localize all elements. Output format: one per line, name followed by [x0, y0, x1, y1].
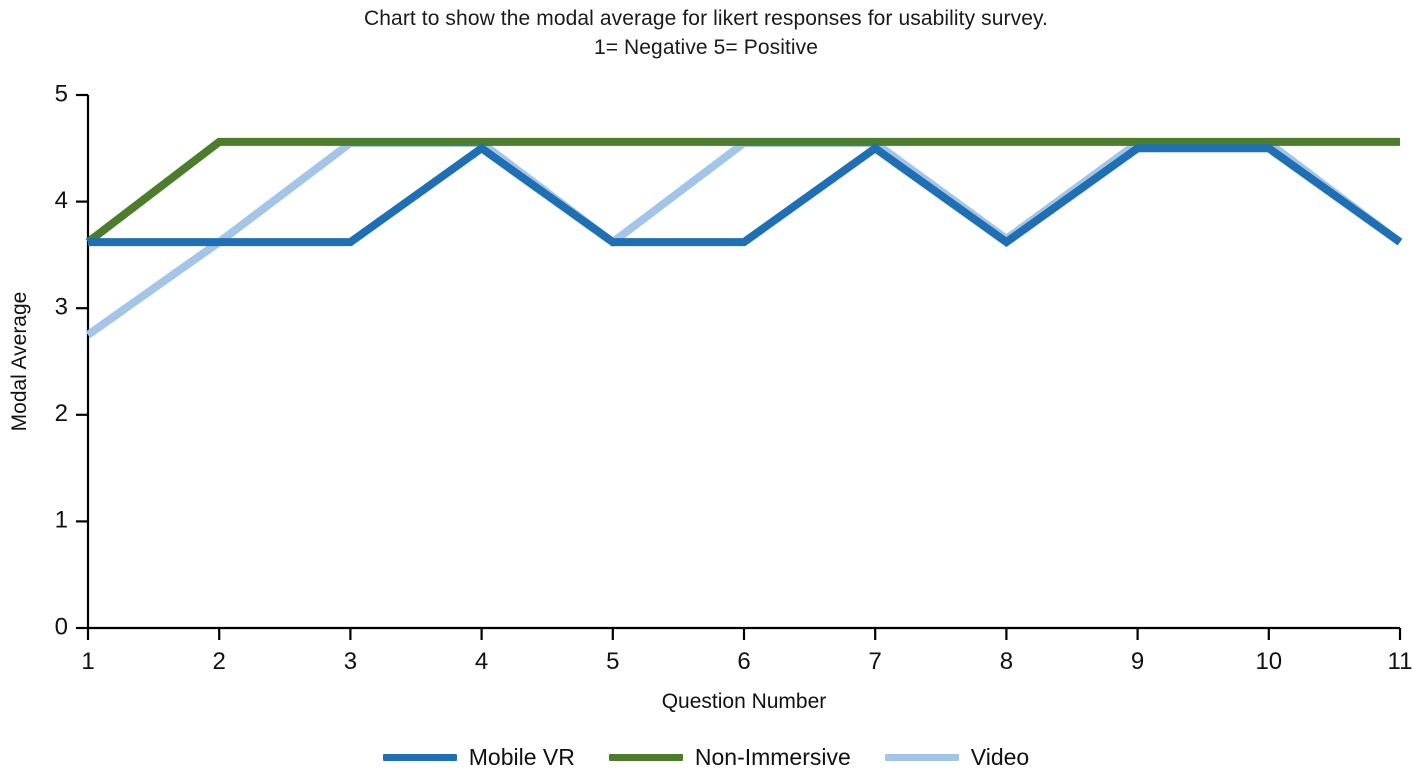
- legend-label-non-immersive: Non-Immersive: [695, 744, 851, 770]
- x-tick-label: 2: [213, 648, 226, 675]
- x-tick-label: 8: [1000, 648, 1013, 675]
- legend-swatch-non-immersive: [609, 754, 683, 761]
- plot-area: 0123451234567891011Question NumberModal …: [0, 0, 1412, 744]
- y-tick-label: 2: [55, 400, 68, 427]
- x-tick-label: 4: [475, 648, 488, 675]
- y-tick-label: 1: [55, 507, 68, 534]
- x-tick-label: 6: [737, 648, 750, 675]
- legend-label-mobile-vr: Mobile VR: [469, 744, 575, 770]
- x-tick-label: 10: [1255, 648, 1282, 675]
- legend-item-non-immersive[interactable]: Non-Immersive: [609, 744, 851, 770]
- legend-label-video: Video: [971, 744, 1029, 770]
- y-tick-label: 3: [55, 294, 68, 321]
- y-axis-title: Modal Average: [8, 292, 31, 432]
- x-tick-label: 11: [1388, 648, 1412, 675]
- x-tick-label: 9: [1131, 648, 1144, 675]
- y-tick-label: 4: [55, 187, 68, 214]
- x-tick-label: 5: [606, 648, 619, 675]
- legend-swatch-video: [885, 754, 959, 761]
- chart-container: Chart to show the modal average for like…: [0, 0, 1412, 780]
- x-axis-title: Question Number: [662, 690, 827, 713]
- legend-item-mobile-vr[interactable]: Mobile VR: [383, 744, 575, 770]
- x-tick-label: 3: [344, 648, 357, 675]
- y-tick-label: 5: [55, 80, 68, 107]
- chart-legend: Mobile VR Non-Immersive Video: [0, 744, 1412, 770]
- x-tick-label: 7: [869, 648, 882, 675]
- legend-item-video[interactable]: Video: [885, 744, 1029, 770]
- legend-swatch-mobile-vr: [383, 754, 457, 761]
- x-tick-label: 1: [81, 648, 94, 675]
- y-tick-label: 0: [55, 613, 68, 640]
